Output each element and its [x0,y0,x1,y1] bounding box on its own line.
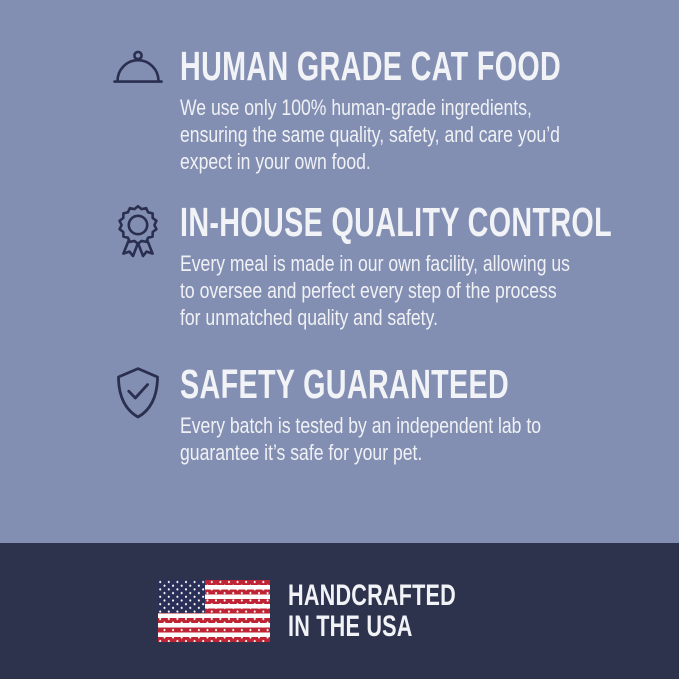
feature-title: HUMAN GRADE CAT FOOD [180,44,561,88]
features-panel: HUMAN GRADE CAT FOOD We use only 100% hu… [0,0,679,543]
cloche-icon [108,44,168,102]
banner-line-2: IN THE USA [288,611,456,642]
feature-item-quality-control: IN-HOUSE QUALITY CONTROL Every meal is m… [108,200,588,331]
feature-body: IN-HOUSE QUALITY CONTROL Every meal is m… [180,200,679,331]
feature-description: Every meal is made in our own facility, … [180,250,679,331]
shield-check-icon [108,362,168,420]
feature-body: HUMAN GRADE CAT FOOD We use only 100% hu… [180,44,679,175]
award-ribbon-icon [108,200,168,258]
us-flag-icon [158,580,270,642]
feature-description: We use only 100% human-grade ingredients… [180,94,679,175]
banner-text: HANDCRAFTED IN THE USA [288,580,521,642]
feature-item-safety-guaranteed: SAFETY GUARANTEED Every batch is tested … [108,362,588,466]
banner-content: HANDCRAFTED IN THE USA [158,580,521,642]
banner-line-1: HANDCRAFTED [288,580,456,611]
feature-title: SAFETY GUARANTEED [180,362,509,406]
feature-description: Every batch is tested by an independent … [180,412,650,466]
feature-item-human-grade: HUMAN GRADE CAT FOOD We use only 100% hu… [108,44,588,175]
handcrafted-in-usa-banner: HANDCRAFTED IN THE USA [0,543,679,679]
feature-body: SAFETY GUARANTEED Every batch is tested … [180,362,650,466]
feature-title: IN-HOUSE QUALITY CONTROL [180,200,612,244]
flag-stars [158,580,270,642]
product-benefits-infographic: HUMAN GRADE CAT FOOD We use only 100% hu… [0,0,679,679]
